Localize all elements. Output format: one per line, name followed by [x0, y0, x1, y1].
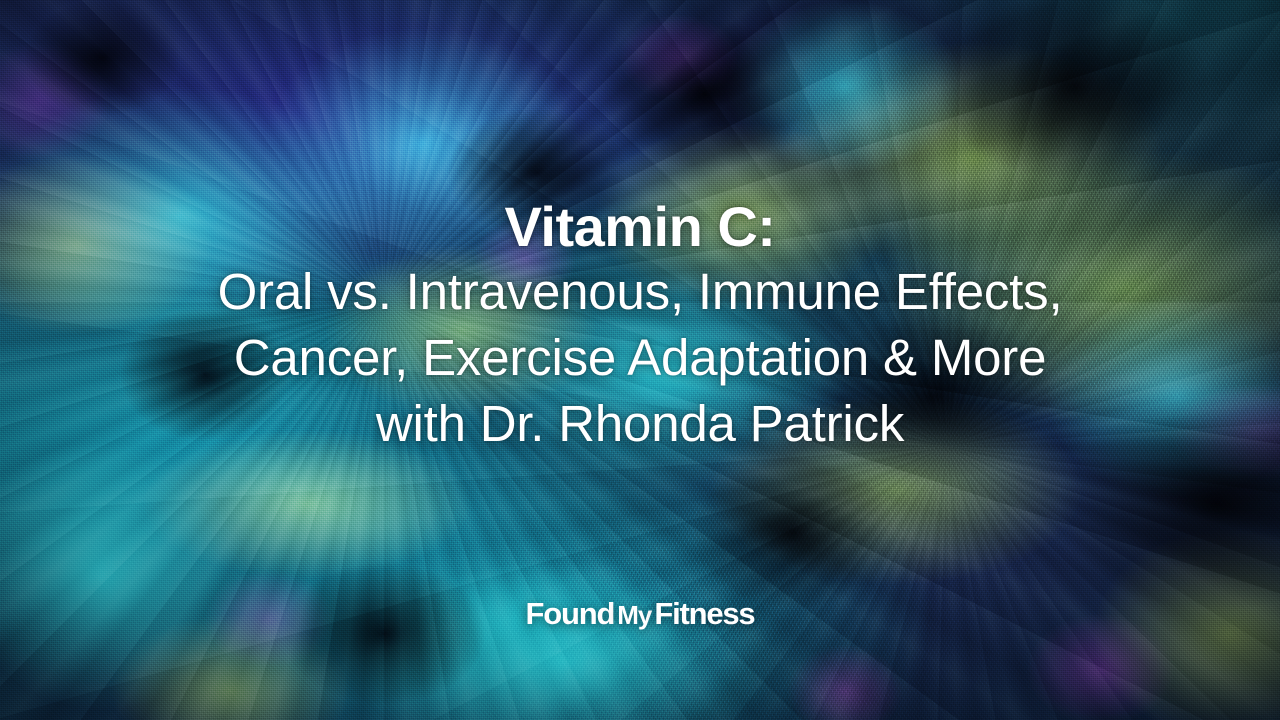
brand-logo-part-found: Found	[526, 596, 615, 632]
title-line-main: Vitamin C:	[0, 196, 1280, 259]
title-block: Vitamin C: Oral vs. Intravenous, Immune …	[0, 196, 1280, 458]
brand-logo: Found My Fitness	[0, 596, 1280, 632]
title-card: Vitamin C: Oral vs. Intravenous, Immune …	[0, 0, 1280, 720]
title-line-subtopics-1: Oral vs. Intravenous, Immune Effects,	[0, 259, 1280, 325]
title-line-host: with Dr. Rhonda Patrick	[0, 391, 1280, 457]
title-line-subtopics-2: Cancer, Exercise Adaptation & More	[0, 325, 1280, 391]
brand-logo-part-my: My	[617, 600, 651, 631]
brand-logo-part-fitness: Fitness	[654, 596, 754, 632]
card-content: Vitamin C: Oral vs. Intravenous, Immune …	[0, 0, 1280, 720]
